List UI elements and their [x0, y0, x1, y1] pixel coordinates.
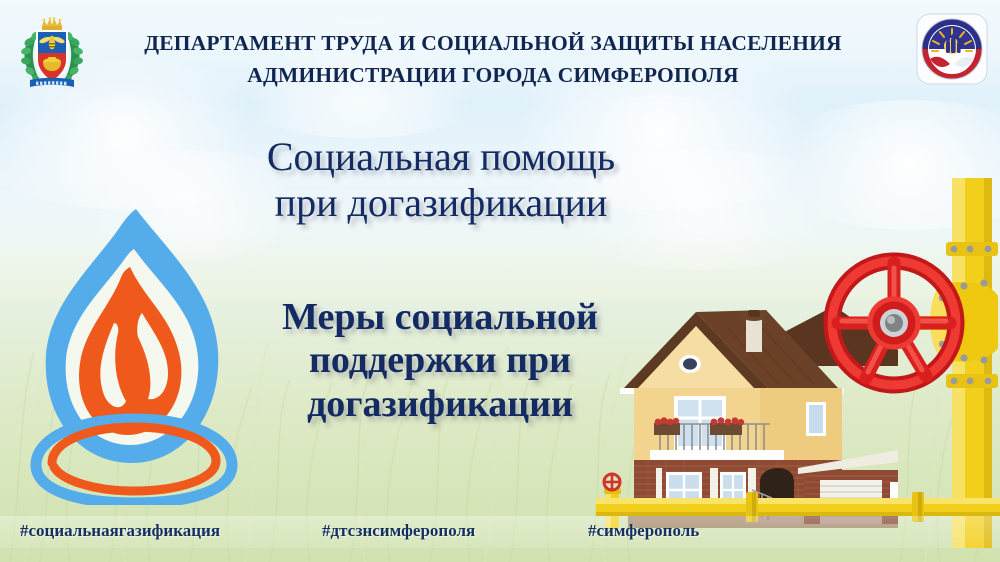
header-line-1: ДЕПАРТАМЕНТ ТРУДА И СОЦИАЛЬНОЙ ЗАЩИТЫ НА…	[78, 27, 908, 59]
main-title: Социальная помощь при догазификации	[196, 134, 686, 225]
hashtag-item[interactable]: #социальнаягазификация	[20, 521, 220, 541]
header-line-2: АДМИНИСТРАЦИИ ГОРОДА СИМФЕРОПОЛЯ	[78, 59, 908, 91]
subtitle: Меры социальной поддержки при догазифика…	[230, 296, 650, 426]
hashtag-list: #социальнаягазификация #дтсзнсимферополя…	[0, 521, 1000, 555]
dtszn-round-emblem-icon	[916, 13, 988, 85]
subtitle-line-3: догазификации	[230, 383, 650, 426]
hashtag-item[interactable]: #дтсзнсимферополя	[322, 521, 475, 541]
gas-flame-logo-icon	[18, 205, 248, 505]
poster-canvas: ДЕПАРТАМЕНТ ТРУДА И СОЦИАЛЬНОЙ ЗАЩИТЫ НА…	[0, 0, 1000, 562]
main-title-line-2: при догазификации	[196, 180, 686, 226]
subtitle-line-2: поддержки при	[230, 339, 650, 382]
main-title-line-1: Социальная помощь	[196, 134, 686, 180]
hashtag-item[interactable]: #симферополь	[588, 521, 699, 541]
subtitle-line-1: Меры социальной	[230, 296, 650, 339]
page-title: ДЕПАРТАМЕНТ ТРУДА И СОЦИАЛЬНОЙ ЗАЩИТЫ НА…	[78, 27, 908, 91]
simferopol-coat-of-arms-icon	[20, 17, 84, 93]
